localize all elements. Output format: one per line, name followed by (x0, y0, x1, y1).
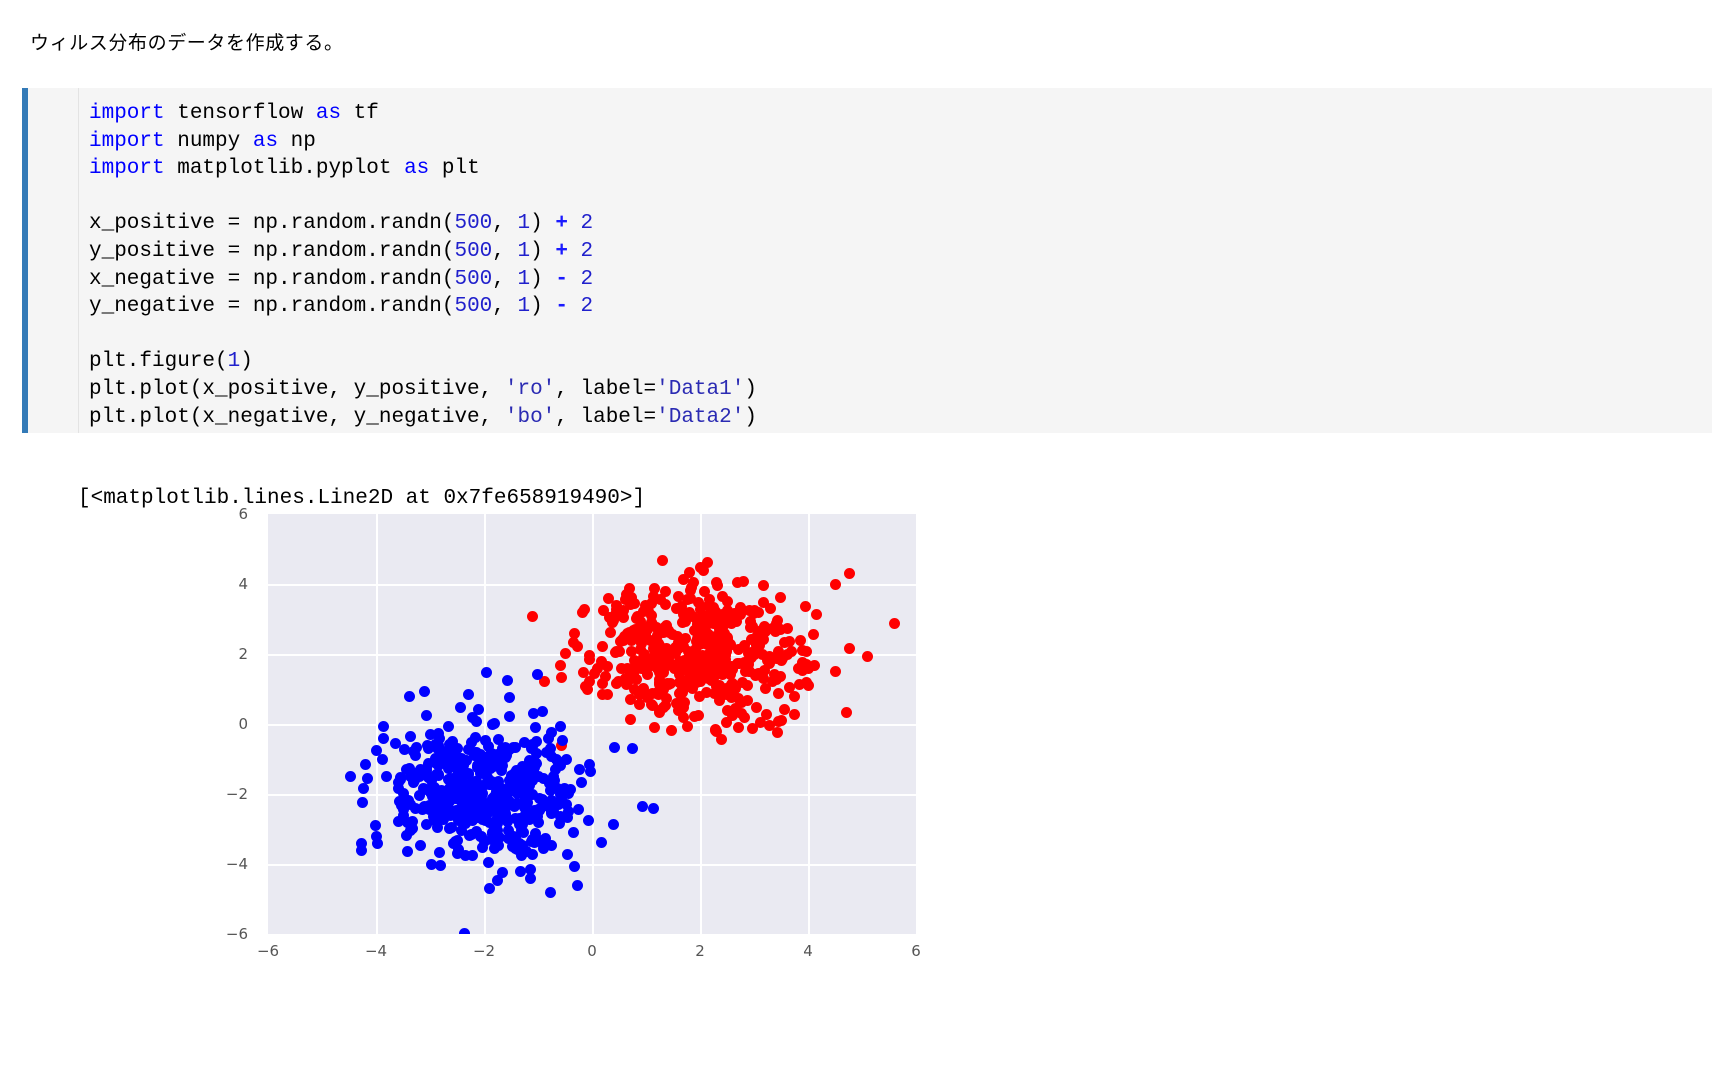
code-token: , (492, 212, 517, 235)
gridline-vertical (700, 514, 702, 934)
scatter-point-data1 (603, 593, 614, 604)
code-token: + (555, 212, 568, 235)
code-token: ) (530, 212, 555, 235)
code-token: 1 (518, 240, 531, 263)
scatter-point-data2 (378, 721, 389, 732)
code-token: 'ro' (505, 378, 555, 401)
code-token: y_negative = np.random.randn( (89, 295, 454, 318)
scatter-point-data1 (607, 617, 618, 628)
scatter-point-data2 (531, 748, 542, 759)
scatter-point-data2 (573, 804, 584, 815)
x-tick-label: −4 (351, 942, 401, 960)
plot-area (268, 514, 916, 934)
scatter-point-data2 (378, 733, 389, 744)
scatter-point-data2 (441, 801, 452, 812)
notebook-page: ウィルス分布のデータを作成する。 import tensorflow as tf… (0, 0, 1712, 1072)
code-line (89, 183, 1712, 211)
scatter-point-data2 (356, 838, 367, 849)
scatter-point-data1 (624, 583, 635, 594)
scatter-point-data2 (419, 686, 430, 697)
scatter-point-data2 (559, 783, 570, 794)
x-tick-label: 0 (567, 942, 617, 960)
scatter-point-data1 (841, 707, 852, 718)
scatter-point-data2 (455, 702, 466, 713)
code-token: ) (530, 240, 555, 263)
code-token: as (253, 130, 278, 153)
scatter-point-data2 (405, 731, 416, 742)
scatter-point-data1 (758, 580, 769, 591)
code-token: import (89, 157, 165, 180)
scatter-point-data2 (489, 843, 500, 854)
scatter-point-data1 (889, 618, 900, 629)
scatter-point-data2 (546, 808, 557, 819)
scatter-point-data2 (504, 711, 515, 722)
code-token: import (89, 130, 165, 153)
code-token: - (555, 268, 568, 291)
scatter-point-data2 (467, 815, 478, 826)
scatter-point-data1 (611, 646, 622, 657)
scatter-point-data1 (646, 598, 657, 609)
scatter-point-data1 (689, 625, 700, 636)
code-line (89, 321, 1712, 349)
scatter-point-data2 (502, 675, 513, 686)
scatter-point-data1 (597, 641, 608, 652)
scatter-point-data1 (642, 624, 653, 635)
scatter-point-data1 (862, 651, 873, 662)
code-token: np (278, 130, 316, 153)
x-tick-label: 2 (675, 942, 725, 960)
scatter-point-data1 (589, 668, 600, 679)
scatter-point-data1 (649, 722, 660, 733)
code-token: , (492, 268, 517, 291)
scatter-point-data1 (746, 652, 757, 663)
scatter-point-data1 (675, 602, 686, 613)
scatter-point-data1 (742, 680, 753, 691)
scatter-point-data1 (630, 662, 641, 673)
scatter-point-data1 (654, 707, 665, 718)
scatter-point-data1 (714, 695, 725, 706)
scatter-point-data2 (637, 801, 648, 812)
scatter-point-data1 (666, 725, 677, 736)
scatter-point-data2 (432, 822, 443, 833)
y-tick-label: −6 (208, 925, 248, 943)
code-token: - (555, 295, 568, 318)
code-token: 1 (518, 268, 531, 291)
scatter-point-data2 (404, 691, 415, 702)
code-line: plt.plot(x_positive, y_positive, 'ro', l… (89, 376, 1712, 404)
code-token (568, 240, 581, 263)
scatter-point-data1 (742, 695, 753, 706)
scatter-point-data1 (775, 592, 786, 603)
scatter-point-data1 (596, 656, 607, 667)
scatter-point-data2 (585, 766, 596, 777)
scatter-point-data1 (800, 601, 811, 612)
scatter-point-data2 (372, 838, 383, 849)
scatter-point-data1 (679, 697, 690, 708)
scatter-point-data2 (531, 736, 542, 747)
scatter-point-data1 (649, 583, 660, 594)
code-line: x_positive = np.random.randn(500, 1) + 2 (89, 210, 1712, 238)
scatter-point-data1 (682, 721, 693, 732)
code-line: import matplotlib.pyplot as plt (89, 155, 1712, 183)
scatter-point-data2 (596, 837, 607, 848)
code-cell[interactable]: import tensorflow as tfimport numpy as n… (22, 88, 1712, 433)
scatter-point-data1 (773, 688, 784, 699)
code-token: plt.plot(x_negative, y_negative, (89, 406, 505, 429)
code-token: tf (341, 102, 379, 125)
scatter-point-data1 (579, 604, 590, 615)
code-token: numpy (165, 130, 253, 153)
scatter-point-data2 (525, 864, 536, 875)
code-token: , (492, 295, 517, 318)
y-tick-label: 0 (208, 715, 248, 733)
gridline-vertical (592, 514, 594, 934)
scatter-point-data1 (789, 709, 800, 720)
scatter-point-data1 (665, 678, 676, 689)
scatter-point-data2 (554, 818, 565, 829)
code-token: 500 (454, 295, 492, 318)
y-tick-label: 4 (208, 575, 248, 593)
scatter-point-data2 (497, 867, 508, 878)
scatter-point-data1 (717, 610, 728, 621)
code-editor[interactable]: import tensorflow as tfimport numpy as n… (78, 88, 1712, 433)
code-token: y_positive = np.random.randn( (89, 240, 454, 263)
output-figure: −6−4−20246 −6−4−20246 (232, 498, 932, 968)
scatter-point-data2 (362, 773, 373, 784)
scatter-point-data2 (443, 721, 454, 732)
scatter-point-data1 (600, 671, 611, 682)
scatter-point-data2 (519, 737, 530, 748)
code-token: , (492, 240, 517, 263)
code-token: tensorflow (165, 102, 316, 125)
scatter-point-data1 (660, 586, 671, 597)
scatter-point-data2 (421, 819, 432, 830)
scatter-point-data2 (370, 820, 381, 831)
x-tick-label: 4 (783, 942, 833, 960)
scatter-point-data2 (407, 823, 418, 834)
scatter-point-data1 (734, 658, 745, 669)
code-token: , label= (555, 378, 656, 401)
scatter-point-data2 (569, 861, 580, 872)
scatter-point-data2 (530, 722, 541, 733)
scatter-point-data2 (538, 843, 549, 854)
scatter-point-data2 (444, 823, 455, 834)
scatter-point-data1 (811, 609, 822, 620)
code-token: 1 (228, 350, 241, 373)
scatter-point-data2 (504, 692, 515, 703)
scatter-point-data1 (751, 702, 762, 713)
scatter-point-data2 (493, 804, 504, 815)
y-tick-label: −4 (208, 855, 248, 873)
code-line: plt.plot(x_negative, y_negative, 'bo', l… (89, 404, 1712, 432)
scatter-point-data1 (747, 723, 758, 734)
x-tick-label: −2 (459, 942, 509, 960)
gridline-vertical (484, 514, 486, 934)
scatter-point-data1 (560, 648, 571, 659)
code-token: plt (429, 157, 479, 180)
scatter-point-data2 (608, 819, 619, 830)
scatter-point-data1 (556, 672, 567, 683)
scatter-point-data2 (457, 761, 468, 772)
code-token: x_negative = np.random.randn( (89, 268, 454, 291)
scatter-point-data2 (459, 928, 470, 934)
scatter-point-data1 (789, 691, 800, 702)
scatter-point-data1 (699, 586, 710, 597)
scatter-point-data1 (684, 567, 695, 578)
scatter-point-data2 (506, 770, 517, 781)
scatter-point-data2 (360, 759, 371, 770)
scatter-point-data1 (844, 568, 855, 579)
scatter-point-data1 (720, 650, 731, 661)
code-token: 1 (518, 295, 531, 318)
code-line: y_negative = np.random.randn(500, 1) - 2 (89, 293, 1712, 321)
code-line: x_negative = np.random.randn(500, 1) - 2 (89, 266, 1712, 294)
code-token: 2 (581, 240, 594, 263)
code-line: y_positive = np.random.randn(500, 1) + 2 (89, 238, 1712, 266)
y-tick-label: −2 (208, 785, 248, 803)
scatter-point-data2 (415, 840, 426, 851)
scatter-point-data1 (767, 623, 778, 634)
scatter-point-data2 (568, 827, 579, 838)
code-token: 'Data2' (656, 406, 744, 429)
scatter-point-data1 (602, 689, 613, 700)
scatter-point-data1 (844, 643, 855, 654)
scatter-point-data2 (402, 846, 413, 857)
y-tick-label: 6 (208, 505, 248, 523)
scatter-point-data1 (677, 617, 688, 628)
code-token: ) (744, 406, 757, 429)
code-token: 500 (454, 240, 492, 263)
scatter-point-data2 (484, 883, 495, 894)
scatter-point-data2 (482, 808, 493, 819)
scatter-point-data2 (627, 743, 638, 754)
scatter-point-data2 (396, 800, 407, 811)
scatter-point-data2 (487, 719, 498, 730)
code-token: import (89, 102, 165, 125)
code-token: ) (744, 378, 757, 401)
code-token: plt.plot(x_positive, y_positive, (89, 378, 505, 401)
code-token: as (316, 102, 341, 125)
scatter-point-data1 (808, 629, 819, 640)
scatter-point-data1 (731, 616, 742, 627)
scatter-point-data2 (421, 710, 432, 721)
scatter-point-data1 (677, 687, 688, 698)
code-token (568, 212, 581, 235)
scatter-point-data1 (725, 639, 736, 650)
code-token: 500 (454, 212, 492, 235)
scatter-point-data1 (715, 664, 726, 675)
scatter-point-data2 (381, 771, 392, 782)
x-tick-label: −6 (243, 942, 293, 960)
code-token: ) (240, 350, 253, 373)
scatter-point-data1 (733, 722, 744, 733)
code-token: plt.figure( (89, 350, 228, 373)
scatter-point-data2 (555, 760, 566, 771)
scatter-point-data2 (526, 836, 537, 847)
scatter-point-data2 (358, 783, 369, 794)
scatter-point-data1 (761, 709, 772, 720)
scatter-point-data1 (605, 627, 616, 638)
code-token: 1 (518, 212, 531, 235)
scatter-point-data2 (609, 742, 620, 753)
scatter-point-data2 (483, 857, 494, 868)
code-line: plt.figure(1) (89, 348, 1712, 376)
scatter-point-data2 (537, 706, 548, 717)
scatter-point-data2 (423, 743, 434, 754)
scatter-point-data1 (673, 591, 684, 602)
scatter-point-data1 (572, 641, 583, 652)
code-token: 500 (454, 268, 492, 291)
code-token: 2 (581, 295, 594, 318)
code-token: + (555, 240, 568, 263)
scatter-point-data2 (493, 756, 504, 767)
scatter-point-data1 (657, 555, 668, 566)
scatter-point-data2 (470, 732, 481, 743)
scatter-point-data1 (801, 646, 812, 657)
scatter-point-data2 (474, 758, 485, 769)
scatter-point-data1 (646, 610, 657, 621)
markdown-cell-text: ウィルス分布のデータを作成する。 (30, 28, 344, 55)
scatter-point-data1 (710, 725, 721, 736)
code-token (568, 295, 581, 318)
scatter-point-data1 (693, 710, 704, 721)
scatter-point-data2 (557, 735, 568, 746)
scatter-point-data2 (481, 667, 492, 678)
code-token: , label= (555, 406, 656, 429)
scatter-point-data2 (583, 815, 594, 826)
code-token: ) (530, 295, 555, 318)
scatter-point-data2 (510, 832, 521, 843)
code-token: 2 (581, 268, 594, 291)
code-line: import numpy as np (89, 128, 1712, 156)
scatter-point-data1 (830, 579, 841, 590)
y-tick-label: 2 (208, 645, 248, 663)
scatter-point-data2 (532, 669, 543, 680)
scatter-point-data2 (357, 797, 368, 808)
scatter-point-data2 (518, 797, 529, 808)
scatter-point-data1 (830, 666, 841, 677)
scatter-point-data2 (488, 828, 499, 839)
scatter-point-data2 (572, 880, 583, 891)
scatter-point-data1 (795, 635, 806, 646)
scatter-point-data2 (562, 849, 573, 860)
scatter-point-data2 (463, 689, 474, 700)
scatter-point-data2 (345, 771, 356, 782)
gridline-vertical (808, 514, 810, 934)
scatter-point-data2 (648, 803, 659, 814)
scatter-point-data1 (712, 580, 723, 591)
scatter-point-data1 (759, 665, 770, 676)
scatter-point-data1 (730, 683, 741, 694)
code-token: matplotlib.pyplot (165, 157, 404, 180)
code-line: import tensorflow as tf (89, 100, 1712, 128)
scatter-point-data1 (782, 623, 793, 634)
scatter-point-data1 (721, 717, 732, 728)
scatter-point-data1 (555, 660, 566, 671)
x-tick-label: 6 (891, 942, 941, 960)
scatter-point-data2 (428, 789, 439, 800)
scatter-point-data1 (695, 604, 706, 615)
scatter-point-data1 (695, 562, 706, 573)
scatter-point-data2 (414, 771, 425, 782)
scatter-point-data1 (699, 621, 710, 632)
code-token: ) (530, 268, 555, 291)
scatter-point-data2 (576, 777, 587, 788)
scatter-point-data2 (434, 847, 445, 858)
code-token: 2 (581, 212, 594, 235)
code-token: 'bo' (505, 406, 555, 429)
scatter-point-data2 (377, 754, 388, 765)
scatter-point-data1 (688, 658, 699, 669)
code-token: x_positive = np.random.randn( (89, 212, 454, 235)
scatter-point-data2 (555, 721, 566, 732)
code-token: 'Data1' (656, 378, 744, 401)
code-token: as (404, 157, 429, 180)
code-token (568, 268, 581, 291)
scatter-point-data2 (475, 831, 486, 842)
scatter-point-data1 (625, 714, 636, 725)
scatter-point-data1 (527, 611, 538, 622)
scatter-point-data2 (545, 887, 556, 898)
